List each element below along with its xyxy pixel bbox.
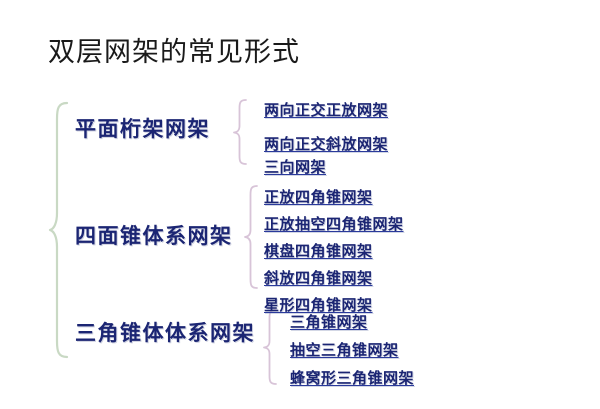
leaf-item: 两向正交斜放网架 [264,133,388,154]
leaf-item: 斜放四角锥网架 [264,267,404,288]
leaf-group-plane-truss: 两向正交正放网架 两向正交斜放网架 三向网架 [264,99,388,177]
leaf-item: 抽空三角锥网架 [290,339,414,360]
leaf-item: 三向网架 [264,156,388,177]
leaf-item: 两向正交正放网架 [264,99,388,120]
diagram-canvas: 双层网架的常见形式 平面桁架网架 四面锥体系网架 三角锥体体系网架 两向正交正放… [0,0,600,409]
leaf-item: 正放抽空四角锥网架 [264,213,404,234]
page-title: 双层网架的常见形式 [48,36,300,70]
leaf-item: 蜂窝形三角锥网架 [290,367,414,388]
leaf-item: 三角锥网架 [290,311,414,332]
category-label-square-pyramid: 四面锥体系网架 [75,224,233,248]
sub-brace-icon-1 [232,98,248,166]
leaf-item: 棋盘四角锥网架 [264,240,404,261]
category-label-triangular-pyramid: 三角锥体体系网架 [75,321,255,345]
leaf-group-square-pyramid: 正放四角锥网架 正放抽空四角锥网架 棋盘四角锥网架 斜放四角锥网架 星形四角锥网… [264,186,404,321]
sub-brace-icon-2 [243,184,259,290]
leaf-group-triangular-pyramid: 三角锥网架 抽空三角锥网架 蜂窝形三角锥网架 [290,311,414,395]
category-label-plane-truss: 平面桁架网架 [75,117,210,141]
leaf-item: 正放四角锥网架 [264,186,404,207]
outer-brace-icon [48,101,70,359]
